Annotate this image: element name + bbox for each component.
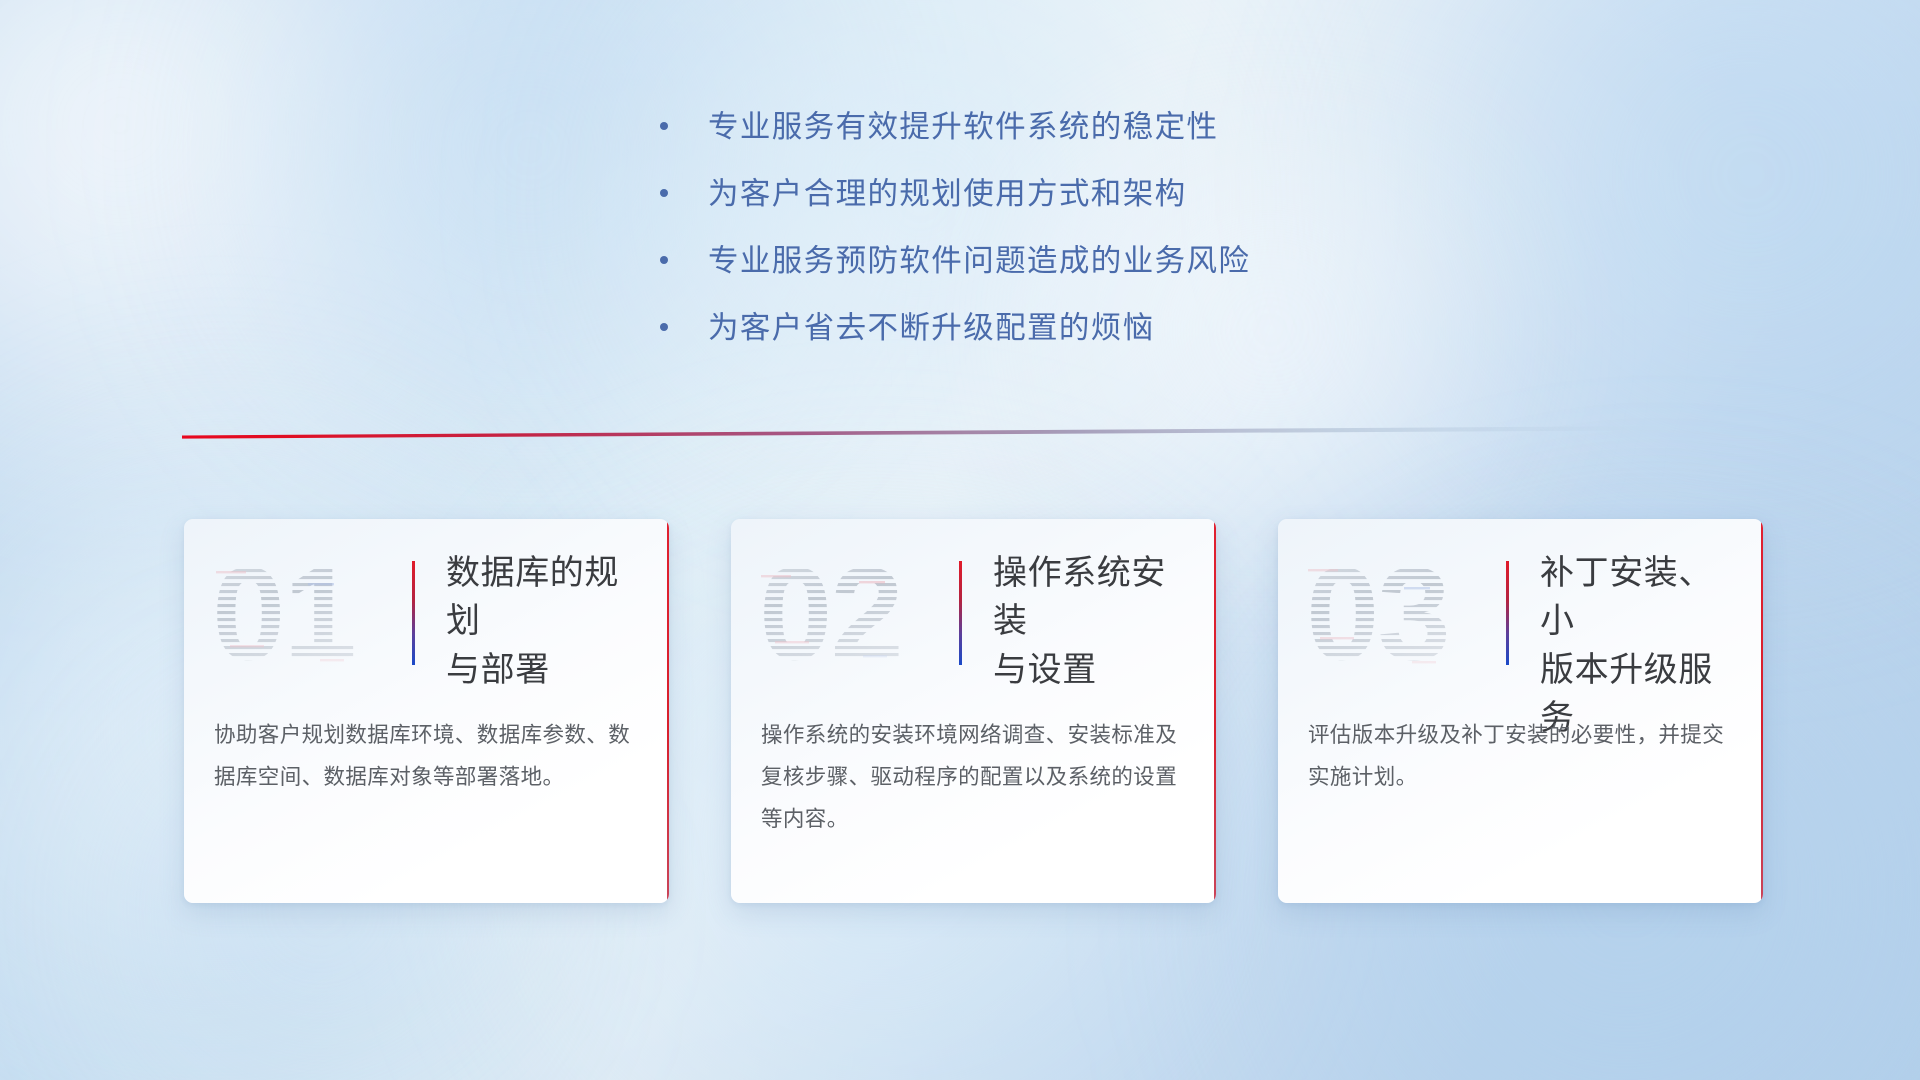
service-card[interactable]: 03 补丁安装、小 版本升级服务 评估版本升级及补丁安装的必要性，并提交实施计划… — [1278, 519, 1763, 903]
card-accent-bar — [1506, 561, 1509, 665]
svg-text:03: 03 — [1306, 541, 1449, 687]
card-header: 02 操作系统安装 与设置 — [731, 519, 1216, 705]
bullet-dot-icon — [660, 122, 668, 130]
card-number-watermark: 02 — [759, 541, 919, 687]
bullet-dot-icon — [660, 323, 668, 331]
list-item: 为客户合理的规划使用方式和架构 — [660, 175, 1250, 213]
svg-text:02: 02 — [759, 541, 902, 687]
card-title-line2: 与设置 — [993, 646, 1188, 694]
card-accent-bar — [959, 561, 962, 665]
bullet-dot-icon — [660, 189, 668, 197]
card-accent-bar — [412, 561, 415, 665]
card-title: 数据库的规划 与部署 — [446, 549, 641, 694]
card-number-watermark: 01 — [212, 541, 372, 687]
bullet-list: 专业服务有效提升软件系统的稳定性 为客户合理的规划使用方式和架构 专业服务预防软… — [660, 108, 1250, 377]
bullet-text: 专业服务预防软件问题造成的业务风险 — [708, 242, 1250, 280]
list-item: 专业服务有效提升软件系统的稳定性 — [660, 108, 1250, 146]
section-divider — [182, 425, 1732, 441]
card-header: 03 补丁安装、小 版本升级服务 — [1278, 519, 1763, 705]
bullet-text: 专业服务有效提升软件系统的稳定性 — [708, 108, 1218, 146]
card-title: 操作系统安装 与设置 — [993, 549, 1188, 694]
service-card[interactable]: 01 数据库的规划 与部署 协助客户规划数据库环境、数据库参数、数据库空间、数据… — [184, 519, 669, 903]
card-title-line2: 与部署 — [446, 646, 641, 694]
list-item: 专业服务预防软件问题造成的业务风险 — [660, 242, 1250, 280]
bullet-text: 为客户省去不断升级配置的烦恼 — [708, 309, 1155, 347]
card-body-text: 协助客户规划数据库环境、数据库参数、数据库空间、数据库对象等部署落地。 — [214, 715, 639, 799]
list-item: 为客户省去不断升级配置的烦恼 — [660, 309, 1250, 347]
service-card-list: 01 数据库的规划 与部署 协助客户规划数据库环境、数据库参数、数据库空间、数据… — [184, 519, 1763, 903]
card-number-watermark: 03 — [1306, 541, 1466, 687]
card-title-line1: 补丁安装、小 — [1540, 549, 1735, 646]
card-title: 补丁安装、小 版本升级服务 — [1540, 549, 1735, 742]
card-body-text: 评估版本升级及补丁安装的必要性，并提交实施计划。 — [1308, 715, 1733, 799]
bullet-text: 为客户合理的规划使用方式和架构 — [708, 175, 1187, 213]
card-body-text: 操作系统的安装环境网络调查、安装标准及复核步骤、驱动程序的配置以及系统的设置等内… — [761, 715, 1186, 841]
card-title-line1: 数据库的规划 — [446, 549, 641, 646]
svg-text:01: 01 — [212, 541, 355, 687]
bullet-dot-icon — [660, 256, 668, 264]
card-header: 01 数据库的规划 与部署 — [184, 519, 669, 705]
card-title-line1: 操作系统安装 — [993, 549, 1188, 646]
service-card[interactable]: 02 操作系统安装 与设置 操作系统的安装环境网络调查、安装标准及复核步骤、驱动… — [731, 519, 1216, 903]
